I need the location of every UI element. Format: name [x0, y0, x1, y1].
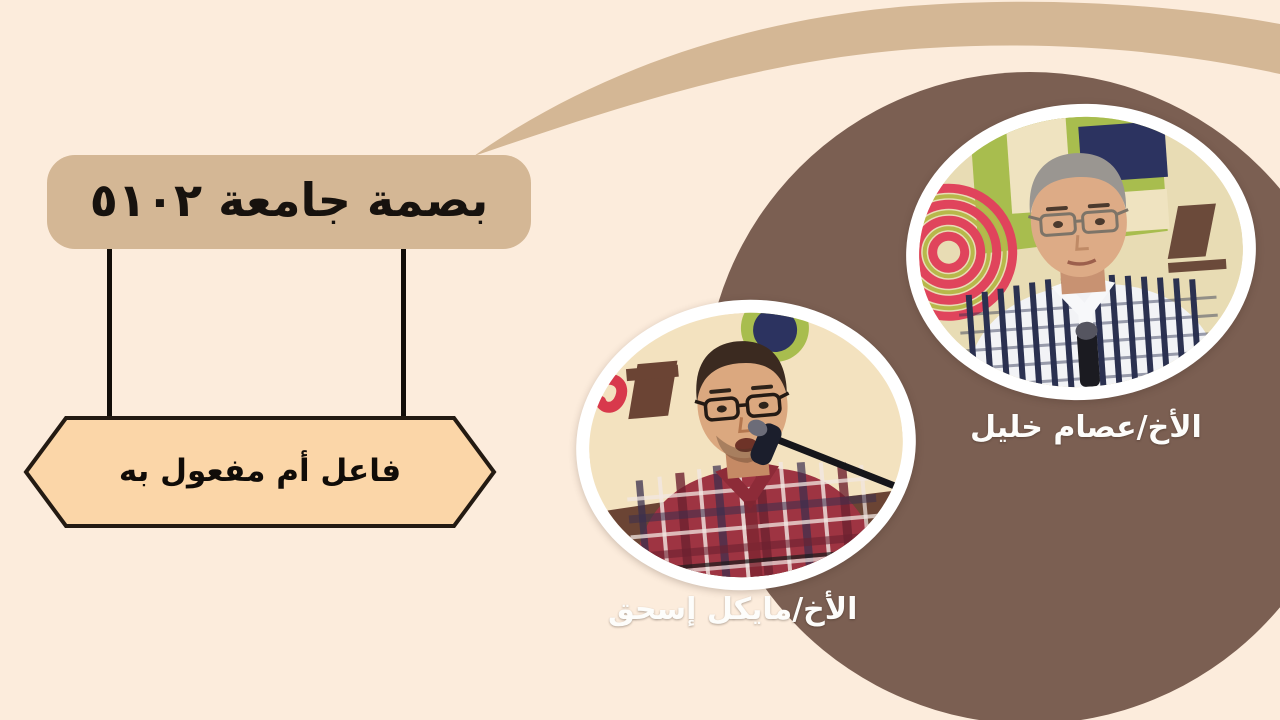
topic-banner: فاعل أم مفعول به	[20, 412, 500, 532]
connector-line-left	[107, 245, 112, 421]
connector-line-right	[401, 245, 406, 421]
caption-essam-khalil: الأخ/عصام خليل	[970, 410, 1202, 445]
portrait-essam-khalil-photo	[910, 106, 1252, 398]
title-text: بصمة جامعة ٢٠١٥	[90, 177, 488, 227]
caption-michael-ishaq: الأخ/مايكل إسحق	[608, 592, 857, 627]
title-banner: بصمة جامعة ٢٠١٥	[47, 155, 531, 249]
topic-banner-text: فاعل أم مفعول به	[20, 412, 500, 532]
portrait-michael-ishaq-photo	[578, 300, 914, 590]
slide-canvas: بصمة جامعة ٢٠١٥ فاعل أم مفعول به	[0, 0, 1280, 720]
